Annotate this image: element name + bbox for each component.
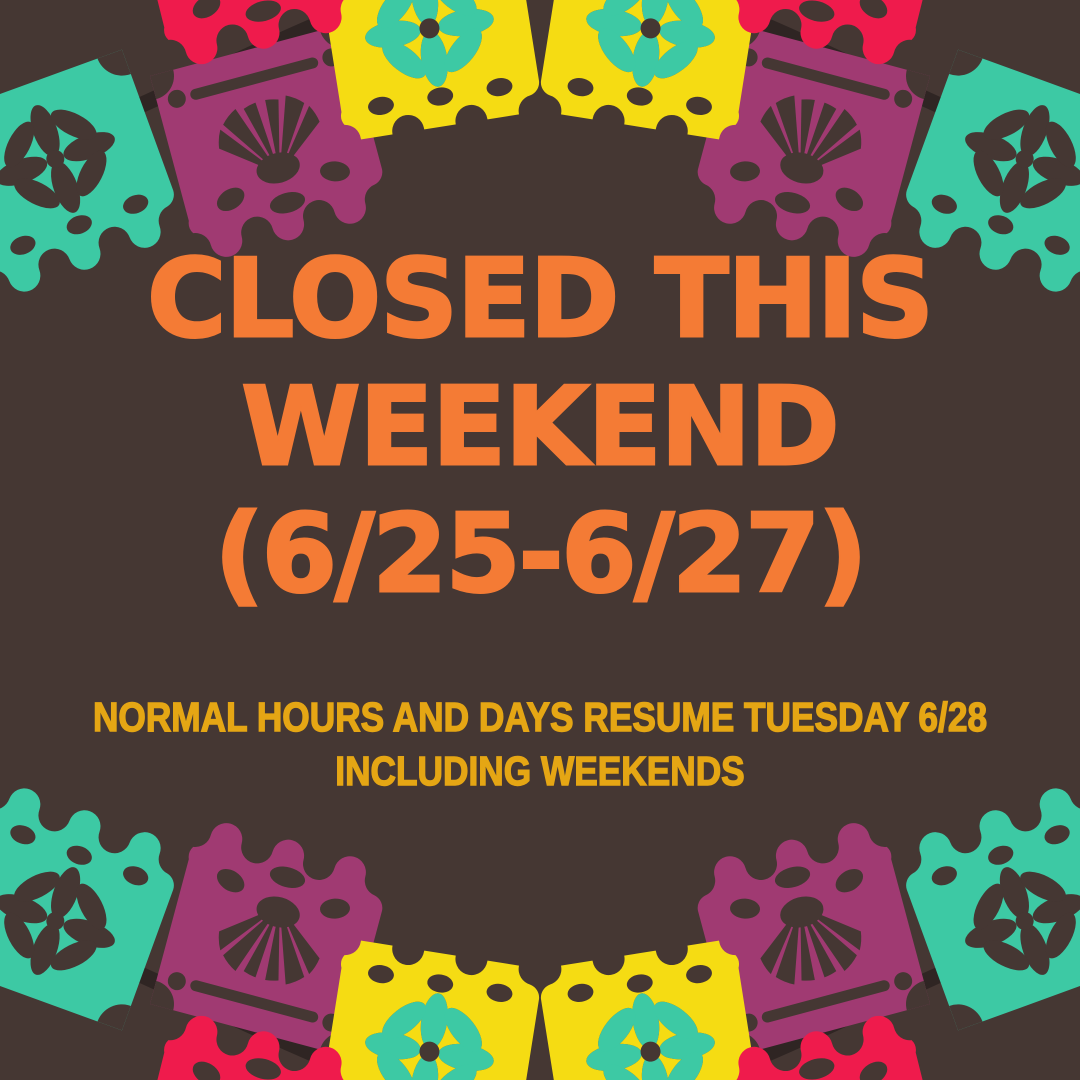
headline-line-2: WEEKEND: [0, 376, 1080, 480]
bottom-flags-right: [534, 778, 1080, 1080]
bottom-flags-left: [0, 778, 546, 1080]
headline-line-3-dates: (6/25-6/27): [0, 503, 1080, 607]
subtext-line-1: NORMAL HOURS AND DAYS RESUME TUESDAY 6/2…: [76, 690, 1005, 744]
headline-line-1: CLOSED THIS: [0, 248, 1080, 352]
headline-block: CLOSED THIS WEEKEND (6/25-6/27): [0, 248, 1080, 607]
subtext-block: NORMAL HOURS AND DAYS RESUME TUESDAY 6/2…: [0, 690, 1080, 798]
poster-canvas: .cut{fill:#453733;} CLOSED THIS WEEKEND …: [0, 0, 1080, 1080]
subtext-line-2: INCLUDING WEEKENDS: [76, 744, 1005, 798]
papel-picado-bottom-banner: [0, 778, 1080, 1080]
